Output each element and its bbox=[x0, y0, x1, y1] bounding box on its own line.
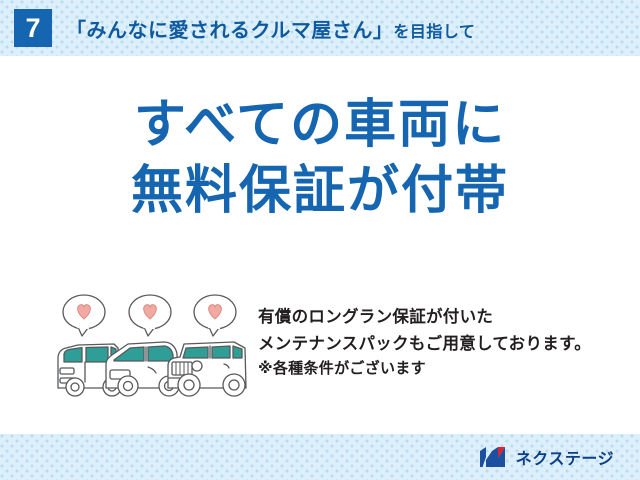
headline-line-1: すべての車両に bbox=[0, 96, 640, 156]
brand-logo: ネクステージ bbox=[479, 445, 614, 469]
header-title: 「みんなに愛されるクルマ屋さん」を目指して bbox=[66, 14, 475, 43]
headline: すべての車両に 無料保証が付帯 bbox=[0, 96, 640, 222]
header-bar: 7 「みんなに愛されるクルマ屋さん」を目指して bbox=[0, 0, 640, 56]
car-right bbox=[168, 342, 246, 396]
body-text-block: 有償のロングラン保証が付いた メンテナンスパックもご用意しております。 ※各種条… bbox=[258, 304, 591, 382]
header-title-main: 「みんなに愛されるクルマ屋さん」 bbox=[66, 20, 393, 42]
section-number-badge: 7 bbox=[14, 9, 52, 47]
body-line-2: メンテナンスパックもご用意しております。 bbox=[258, 331, 591, 358]
brand-logo-text: ネクステージ bbox=[516, 445, 614, 469]
three-cars-svg bbox=[52, 292, 252, 402]
nextage-n-logo-icon bbox=[479, 446, 509, 468]
body-line-1: 有償のロングラン保証が付いた bbox=[258, 304, 591, 331]
headline-line-2: 無料保証が付帯 bbox=[0, 162, 640, 222]
content-row: 有償のロングラン保証が付いた メンテナンスパックもご用意しております。 ※各種条… bbox=[0, 292, 640, 412]
header-title-sub: を目指して bbox=[393, 24, 475, 41]
footer-bar: ネクステージ bbox=[0, 434, 640, 480]
heart-bubble-2 bbox=[129, 295, 171, 336]
heart-bubble-1 bbox=[63, 295, 105, 336]
cars-illustration bbox=[52, 292, 252, 402]
heart-bubble-3 bbox=[194, 295, 236, 336]
body-note: ※各種条件がございます bbox=[258, 357, 591, 381]
promo-slide: 7 「みんなに愛されるクルマ屋さん」を目指して すべての車両に 無料保証が付帯 bbox=[0, 0, 640, 480]
